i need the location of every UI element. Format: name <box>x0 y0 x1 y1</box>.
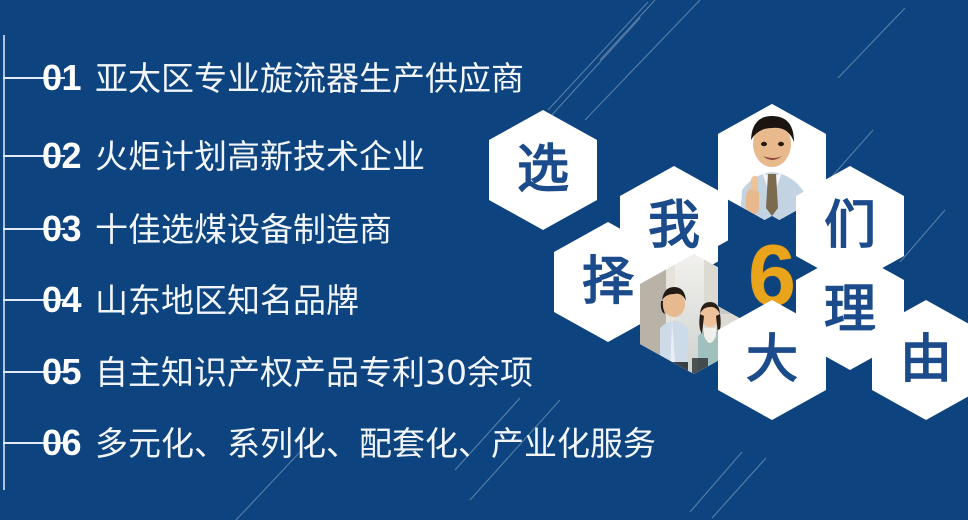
list-item-number: 05 <box>42 354 81 390</box>
hex-label: 择 <box>582 256 634 308</box>
list-item-text: 十佳选煤设备制造商 <box>95 213 392 246</box>
left-axis-rule <box>3 35 5 490</box>
promo-banner: 01 亚太区专业旋流器生产供应商 02 火炬计划高新技术企业 03 十佳选煤设备… <box>0 0 968 520</box>
hex-label: 们 <box>824 200 876 252</box>
list-item: 03 十佳选煤设备制造商 <box>42 211 392 247</box>
list-item-text: 山东地区知名品牌 <box>95 284 359 317</box>
hex-label: 我 <box>648 200 700 252</box>
hex-label: 理 <box>824 284 876 336</box>
hex-cell-xuan: 选 <box>489 110 597 230</box>
list-item-text: 亚太区专业旋流器生产供应商 <box>95 62 524 95</box>
list-item-number: 04 <box>42 282 81 318</box>
list-item-text: 自主知识产权产品专利30余项 <box>95 356 533 389</box>
list-item-number: 01 <box>42 60 81 96</box>
hex-label: 由 <box>900 334 952 386</box>
list-item: 06 多元化、系列化、配套化、产业化服务 <box>42 425 656 461</box>
list-item: 04 山东地区知名品牌 <box>42 282 359 318</box>
list-item: 02 火炬计划高新技术企业 <box>42 138 425 174</box>
list-item: 01 亚太区专业旋流器生产供应商 <box>42 60 524 96</box>
list-item-text: 火炬计划高新技术企业 <box>95 140 425 173</box>
list-item-text: 多元化、系列化、配套化、产业化服务 <box>95 427 656 460</box>
list-item: 05 自主知识产权产品专利30余项 <box>42 354 533 390</box>
list-item-number: 02 <box>42 138 81 174</box>
hex-label: 大 <box>746 334 798 386</box>
hex-label: 选 <box>517 144 569 196</box>
list-item-number: 06 <box>42 425 81 461</box>
list-item-number: 03 <box>42 211 81 247</box>
